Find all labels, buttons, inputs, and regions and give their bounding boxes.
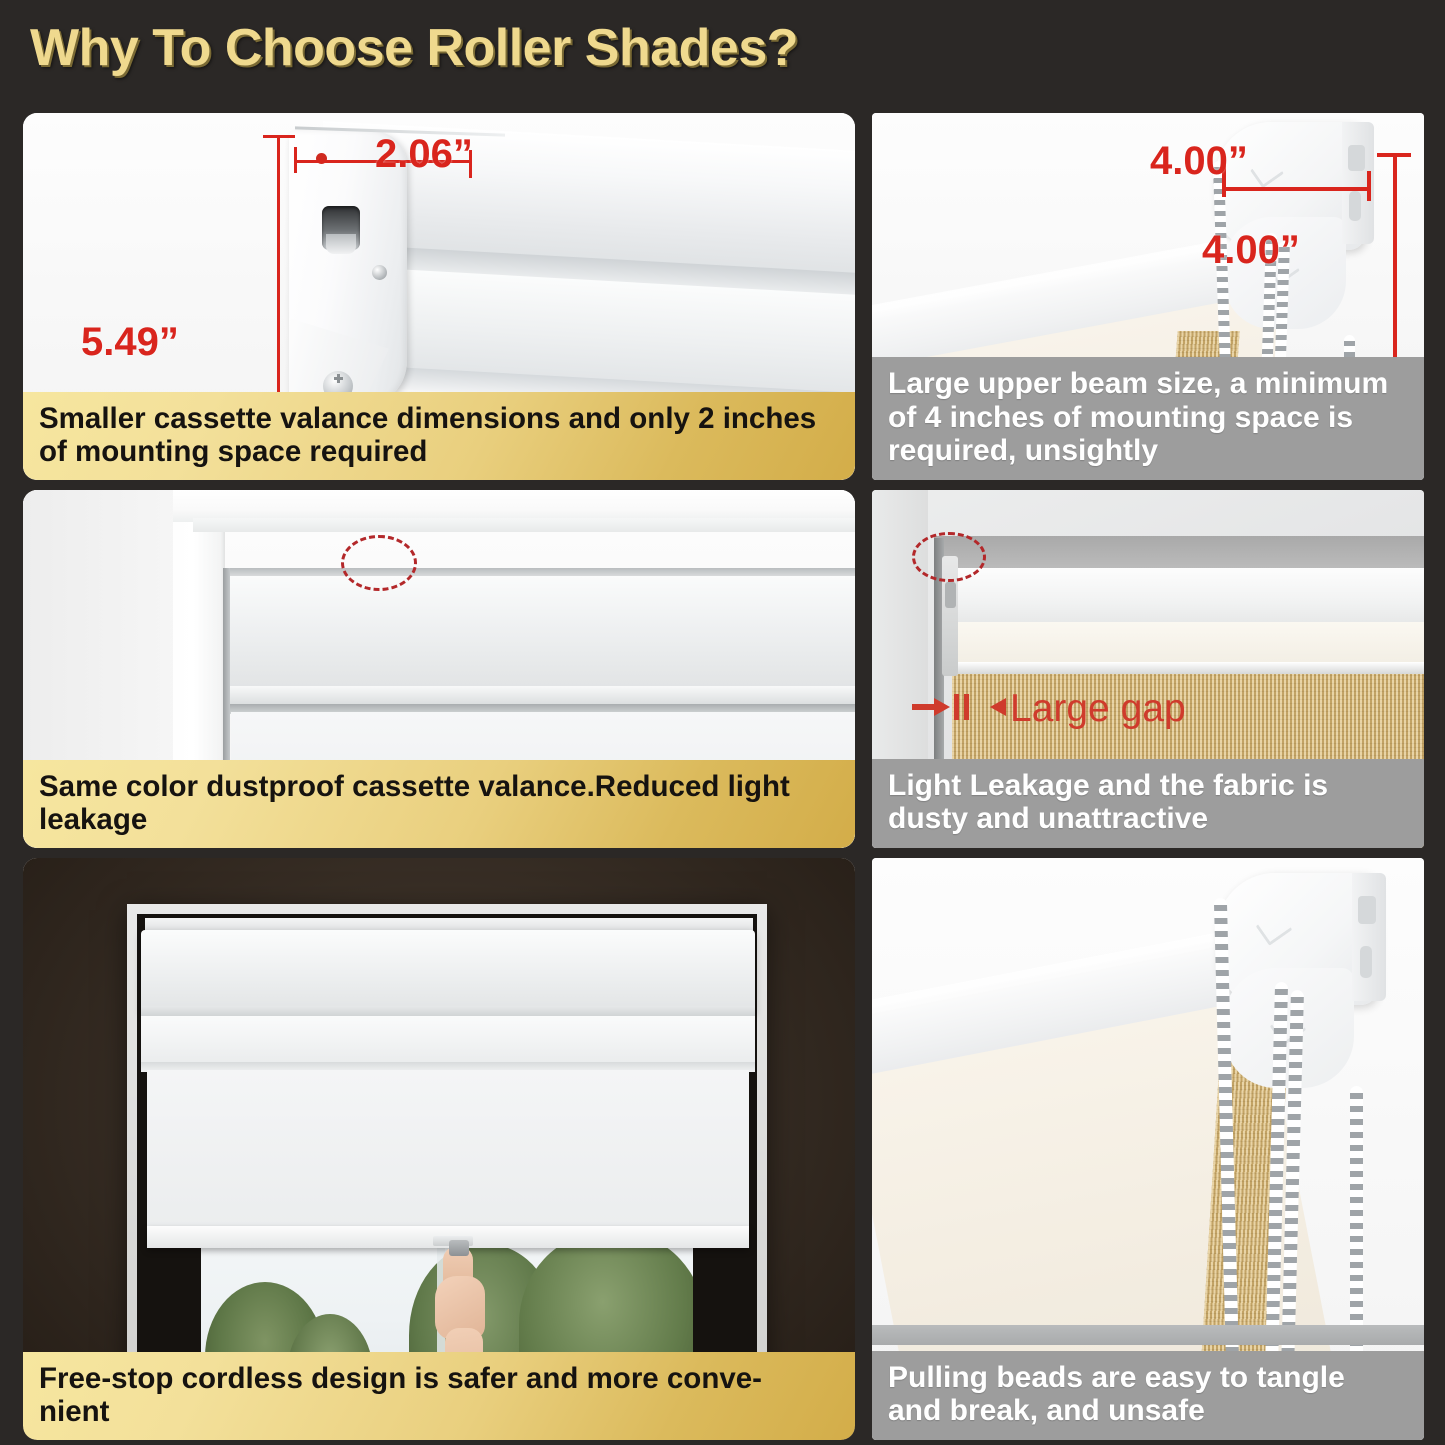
width-dimension-label: 2.06”: [375, 132, 473, 177]
caption-top-left: Smaller cassette valance dimensions and …: [23, 392, 855, 480]
panel-bottom-left: Free-stop cordless design is safer and m…: [23, 858, 855, 1440]
panel-middle-right: Large gap Light Leakage and the fabric i…: [872, 490, 1424, 848]
height-dimension-label: 4.00”: [1202, 228, 1300, 273]
caption-bottom-right: Pulling beads are easy to tangle and bre…: [872, 1351, 1424, 1440]
caption-top-left-text: Smaller cassette valance dimensions and …: [39, 402, 816, 468]
caption-bottom-right-line1: Pulling beads are easy to tangle: [888, 1361, 1345, 1394]
width-dimension-label: 4.00”: [1150, 139, 1248, 184]
panel-middle-left: smaller gap Same color dustproof cassett…: [23, 490, 855, 848]
caption-middle-right: Light Leakage and the fabric is dusty an…: [872, 759, 1424, 848]
caption-middle-right-text: Light Leakage and the fabric is dusty an…: [888, 769, 1328, 836]
width-dimension-line: [1223, 187, 1371, 191]
height-dimension-line: [277, 135, 280, 425]
page-title: Why To Choose Roller Shades?: [30, 18, 798, 78]
height-dimension-label: 5.49”: [81, 320, 179, 365]
caption-bottom-left-line1: Free-stop cordless design is safer and m…: [39, 1362, 762, 1395]
highlight-ellipse: [341, 535, 417, 591]
caption-middle-left-text: Same color dustproof cassette valance.Re…: [39, 770, 790, 836]
panel-top-left: 2.06” 5.49” Smaller cassette valance dim…: [23, 113, 855, 480]
caption-bottom-left: Free-stop cordless design is safer and m…: [23, 1352, 855, 1440]
panel-bottom-right: Pulling beads are easy to tangle and bre…: [872, 858, 1424, 1440]
caption-middle-left: Same color dustproof cassette valance.Re…: [23, 760, 855, 848]
caption-bottom-right-line2: and break, and unsafe: [888, 1394, 1205, 1427]
caption-top-right: Large upper beam size, a minimum of 4 in…: [872, 357, 1424, 480]
caption-bottom-left-line2: nient: [39, 1395, 109, 1428]
panel-top-right: 4.00” 4.00” Large upper beam size, a min…: [872, 113, 1424, 480]
highlight-ellipse: [912, 532, 986, 582]
gap-label-right: Large gap: [1010, 687, 1186, 731]
caption-top-right-text: Large upper beam size, a minimum of 4 in…: [888, 367, 1388, 467]
